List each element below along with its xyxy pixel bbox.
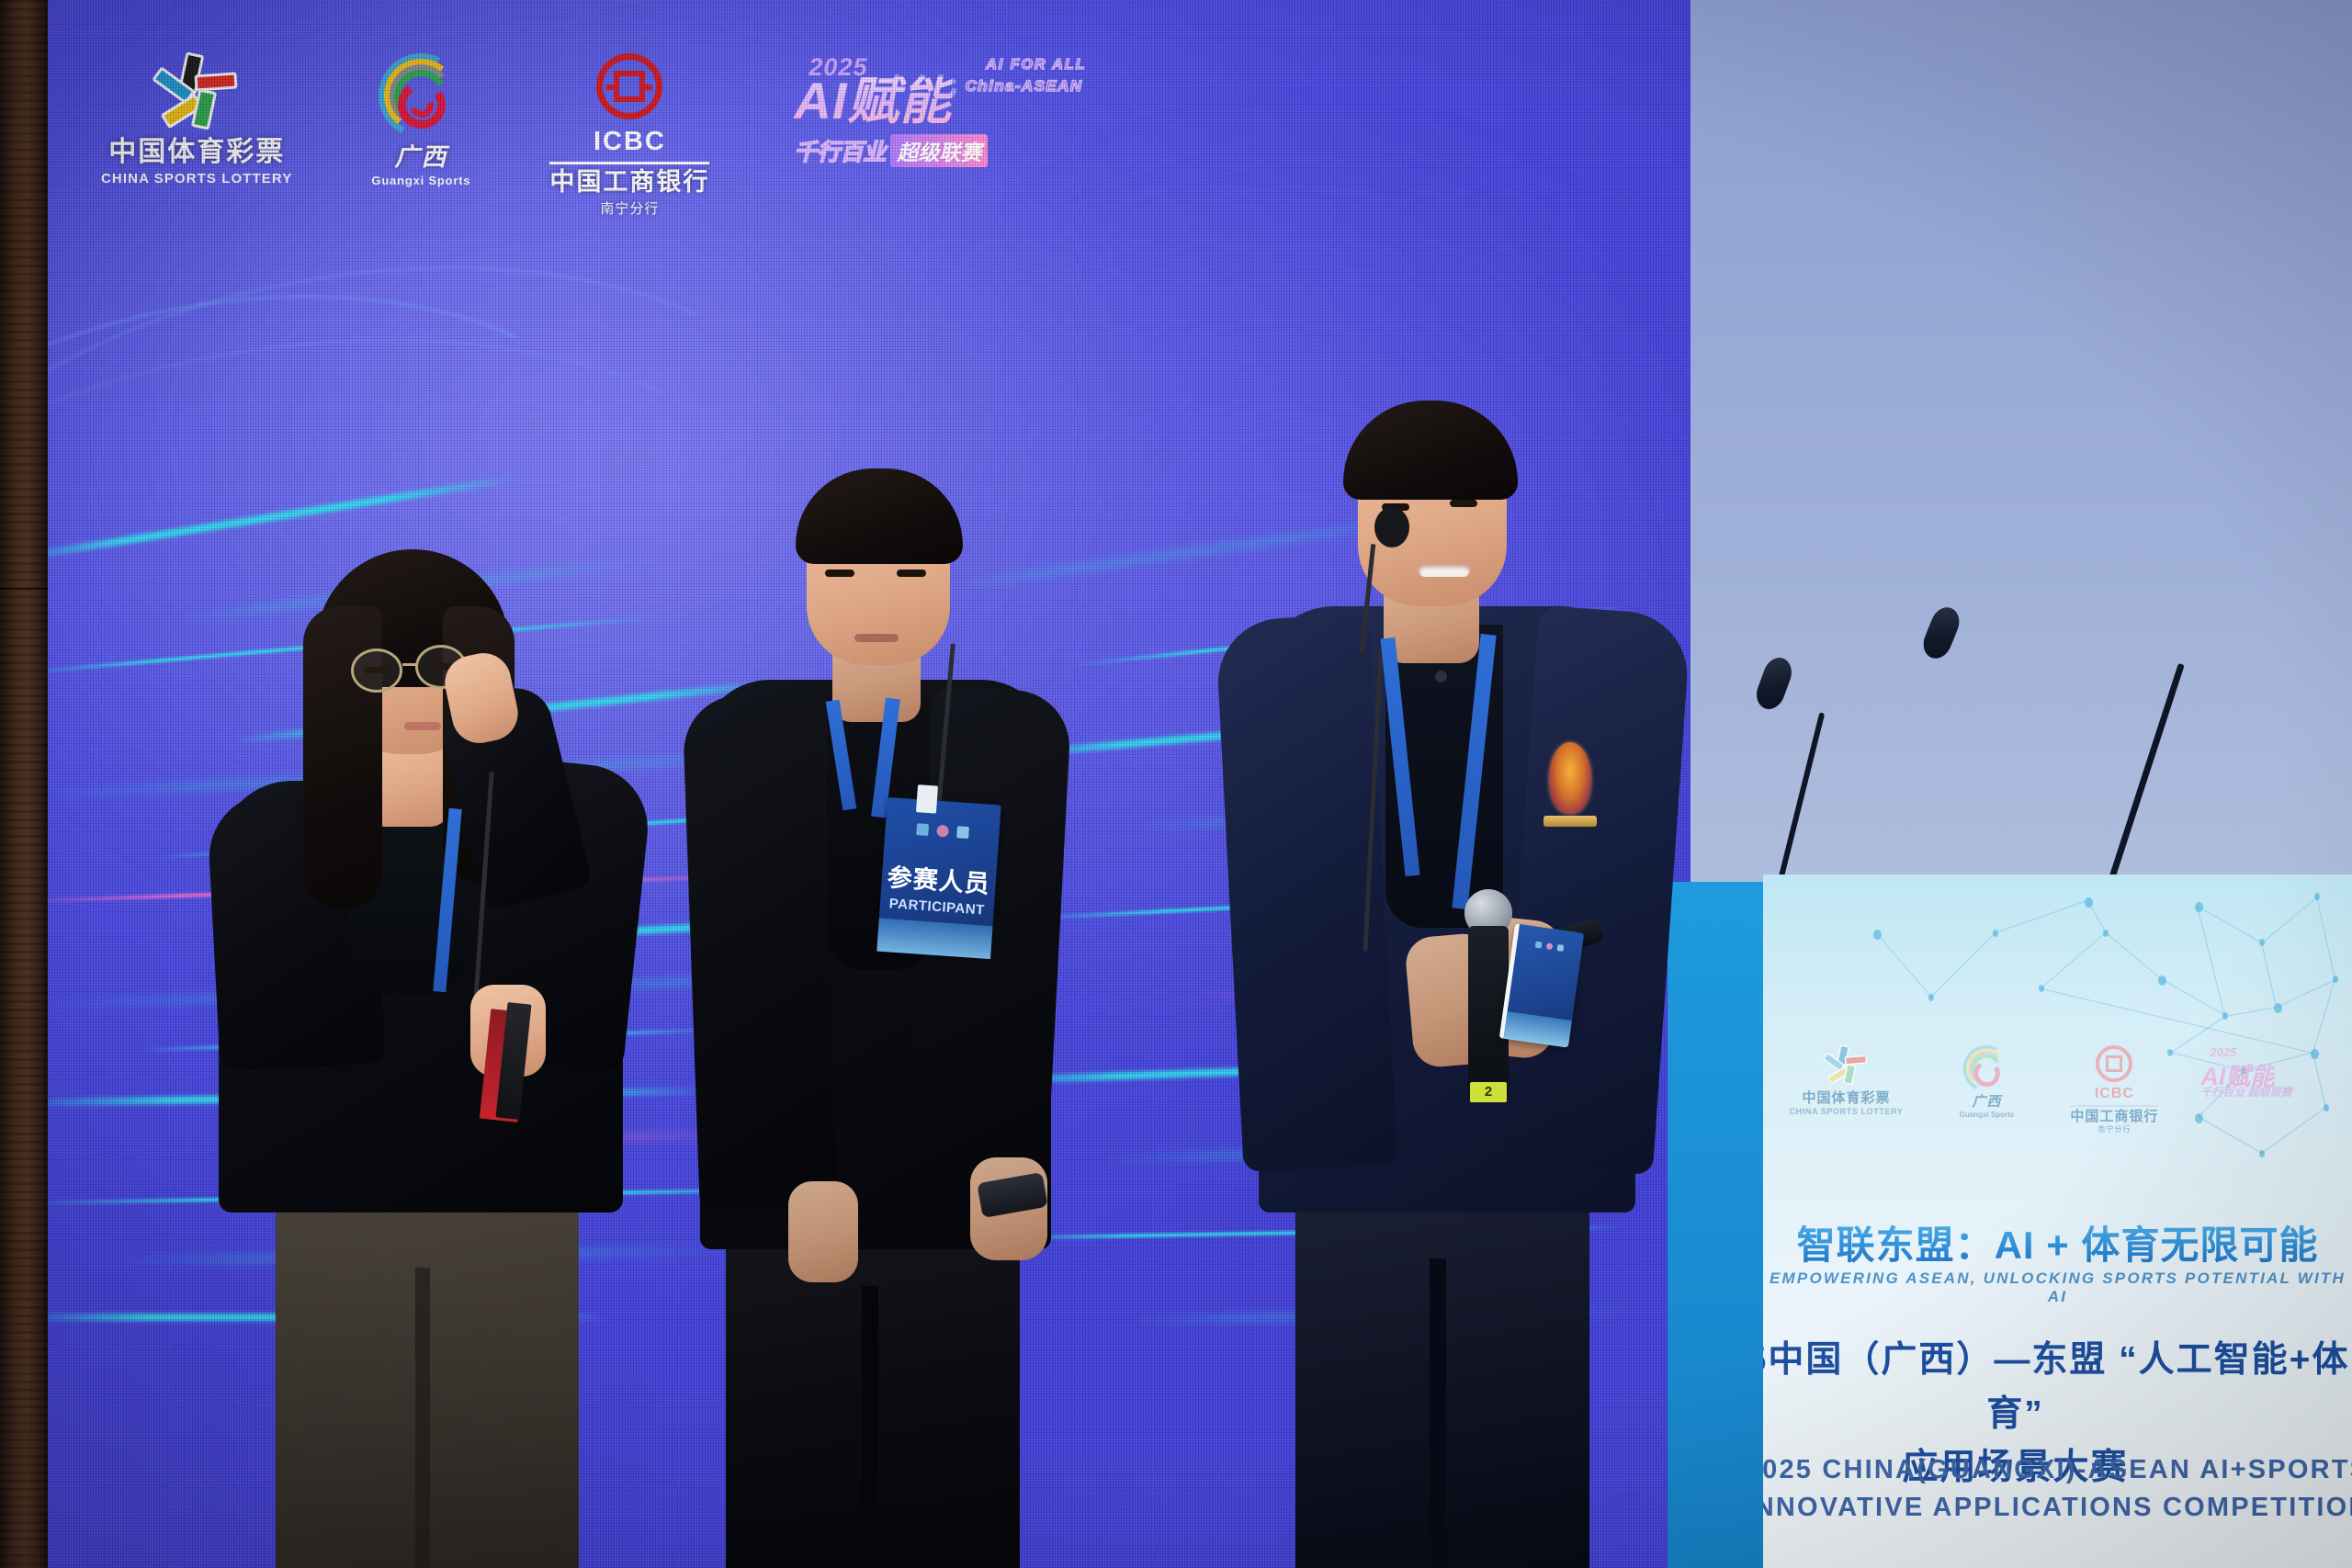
icbc-branch-label: 南宁分行: [2098, 1126, 2131, 1134]
mouth-speaking: [1419, 564, 1470, 577]
trouser-gap: [862, 1286, 878, 1568]
podium-sponsor-label-cn: 广西: [1972, 1095, 2001, 1109]
pin-ribbon-bar: [1543, 816, 1597, 827]
left-wood-panel: [0, 0, 48, 1568]
ai-empowerment-icon: 2025 AI赋能 千行百业 超级联赛: [2197, 1045, 2325, 1099]
sponsor-label-cn: 中国工商银行: [549, 170, 709, 195]
podium-title-en: 2025 CHINA(GUANGXI)-ASEAN AI+SPORTS INNO…: [1763, 1451, 2352, 1527]
jacket-left-arm: [682, 693, 837, 1212]
podium-title-en-line2: INNOVATIVE APPLICATIONS COMPETITION: [1763, 1489, 2352, 1527]
podium-sponsor-icbc: ICBC 中国工商银行 南宁分行: [2070, 1045, 2158, 1134]
podium-title-cn-line1: 2025中国（广西）—东盟 “人工智能+体育”: [1763, 1334, 2352, 1441]
eye-right: [897, 570, 926, 577]
network-edge: [2225, 1007, 2277, 1017]
divider: [549, 162, 709, 164]
ai-logo-sub: 千行百业 超级联赛: [2200, 1084, 2291, 1100]
network-edge: [2197, 906, 2225, 1016]
icbc-icon: [2096, 1045, 2132, 1082]
divider: [2070, 1105, 2158, 1107]
china-sports-lottery-icon: [153, 53, 241, 132]
podium-sponsor-label-cn: 中国体育彩票: [1802, 1091, 1890, 1105]
icbc-wordmark: ICBC: [2095, 1086, 2134, 1102]
podium-front-panel: 中国体育彩票 CHINA SPORTS LOTTERY 广西 Guangxi S…: [1763, 874, 2352, 1568]
network-edge: [2262, 897, 2318, 943]
trouser-seam: [415, 1268, 430, 1568]
participant-badge: 参赛人员 PARTICIPANT: [876, 797, 1001, 959]
ai-logo-main: AI赋能: [794, 77, 952, 125]
microphone-channel-number: 2: [1474, 1084, 1503, 1100]
badge-label-en: PARTICIPANT: [888, 896, 985, 918]
podium-side-panel: [1668, 882, 1767, 1568]
podium-sponsor-ai-empowerment: 2025 AI赋能 千行百业 超级联赛: [2197, 1045, 2325, 1099]
eye-left: [825, 570, 854, 577]
network-edge: [1876, 932, 1932, 998]
sponsor-china-sports-lottery: 中国体育彩票 CHINA SPORTS LOTTERY: [101, 53, 292, 186]
sponsor-guangxi-sports: 广西 Guangxi Sports: [371, 53, 470, 186]
podium-sponsor-label-en: CHINA SPORTS LOTTERY: [1790, 1108, 1904, 1116]
sponsor-icbc: ICBC 中国工商银行 南宁分行: [549, 53, 709, 216]
network-edge: [2087, 901, 2107, 933]
eye-right: [1450, 500, 1477, 507]
podium-sponsor-china-sports-lottery: 中国体育彩票 CHINA SPORTS LOTTERY: [1790, 1045, 1904, 1116]
network-edge: [2041, 932, 2106, 988]
mouth: [404, 722, 441, 730]
podium-slogan-cn: 智联东盟：AI + 体育无限可能: [1763, 1214, 2352, 1270]
ai-empowerment-icon: 2025 AI FOR ALL China-ASEAN AI赋能 千行百业 超级…: [788, 53, 1091, 162]
ai-logo-sub: 千行百业: [794, 134, 886, 167]
sponsor-ai-empowerment: 2025 AI FOR ALL China-ASEAN AI赋能 千行百业 超级…: [788, 53, 1091, 162]
shirt-button: [1435, 671, 1447, 682]
badge-clip: [916, 784, 938, 813]
network-edge: [2312, 979, 2335, 1053]
network-edge: [2261, 942, 2277, 1007]
ai-logo-en-top: AI FOR ALL: [986, 57, 1086, 73]
podium-sponsor-label-cn: 中国工商银行: [2070, 1110, 2158, 1123]
network-edge: [2198, 906, 2262, 943]
thai-emblem-pin-icon: [1549, 742, 1591, 814]
podium-slogan-en: EMPOWERING ASEAN, UNLOCKING SPORTS POTEN…: [1763, 1269, 2352, 1306]
network-edge: [1996, 900, 2087, 933]
podium-sponsor-label-en: Guangxi Sports: [1960, 1111, 2015, 1119]
trouser-gap: [1430, 1258, 1446, 1568]
conference-stage-photo: 中国体育彩票 CHINA SPORTS LOTTERY 广西 Guangxi S…: [0, 0, 2352, 1568]
ai-logo-en-sub: China-ASEAN: [966, 77, 1083, 96]
badge-sponsor-marks: [885, 821, 1000, 841]
network-edge: [2106, 932, 2162, 979]
sponsor-logo-strip: 中国体育彩票 CHINA SPORTS LOTTERY 广西 Guangxi S…: [101, 53, 1091, 216]
podium-sponsor-guangxi-sports: 广西 Guangxi Sports: [1941, 1045, 2031, 1119]
guangxi-sports-icon: [1962, 1045, 2011, 1072]
mouth: [854, 634, 899, 642]
icbc-branch-label: 南宁分行: [600, 202, 659, 216]
speaker-podium: 中国体育彩票 CHINA SPORTS LOTTERY 广西 Guangxi S…: [1668, 874, 2352, 1568]
sponsor-label-en: CHINA SPORTS LOTTERY: [101, 172, 292, 186]
network-edge: [1930, 932, 1996, 998]
sponsor-label-en: Guangxi Sports: [371, 175, 470, 186]
network-edge: [2316, 897, 2335, 979]
icbc-icon: [596, 53, 662, 119]
china-sports-lottery-icon: [1824, 1045, 1870, 1068]
sponsor-label-cn: 广西: [394, 145, 447, 170]
badge-label-cn: 参赛人员: [887, 857, 991, 900]
ai-logo-band: 超级联赛: [890, 134, 988, 167]
podium-sponsor-logos: 中国体育彩票 CHINA SPORTS LOTTERY 广西 Guangxi S…: [1763, 1045, 2352, 1134]
hand-left: [788, 1181, 858, 1282]
guangxi-sports-icon: [376, 53, 466, 138]
network-edge: [2041, 988, 2313, 1054]
eye-left: [364, 667, 388, 673]
sponsor-label-cn: 中国体育彩票: [108, 139, 285, 166]
icbc-wordmark: ICBC: [594, 127, 666, 157]
podium-title-en-line1: 2025 CHINA(GUANGXI)-ASEAN AI+SPORTS: [1763, 1451, 2352, 1489]
earpiece-icon: [1374, 507, 1409, 547]
